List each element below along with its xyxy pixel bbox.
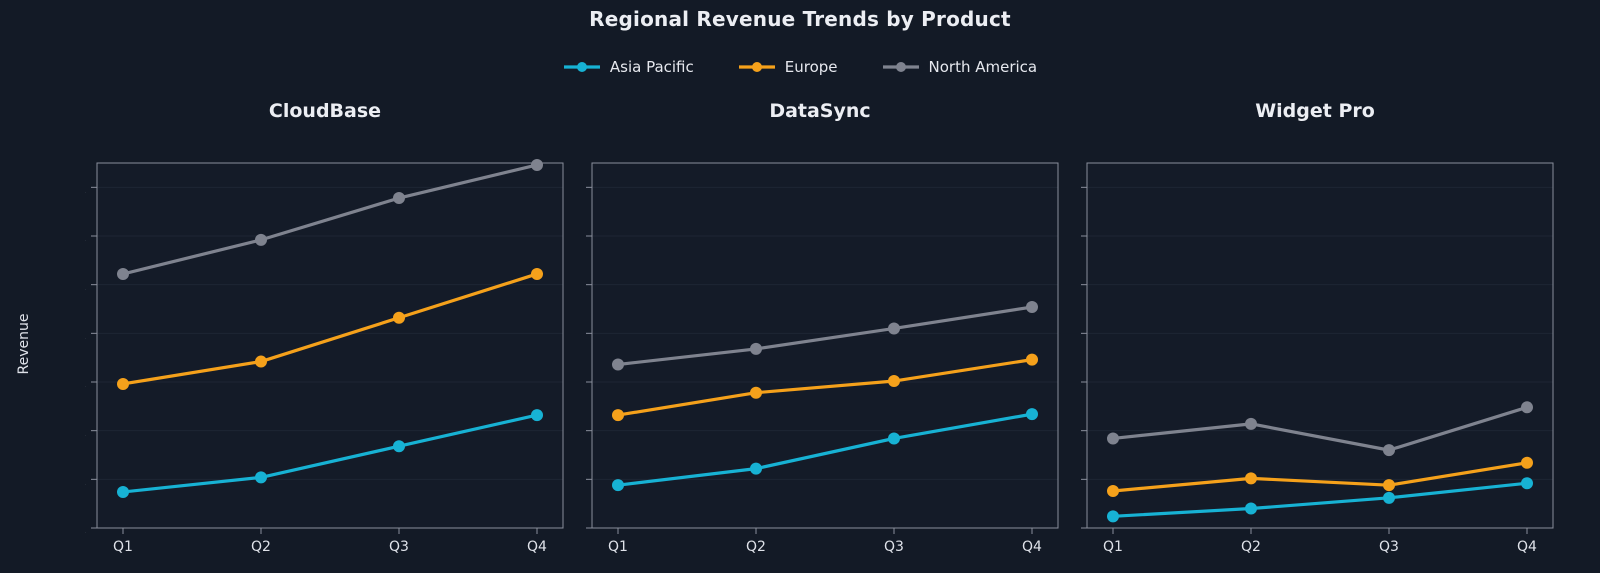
legend-label: Europe bbox=[785, 58, 838, 76]
chart-panel: DataSyncQ1Q2Q3Q4 bbox=[580, 100, 1060, 560]
data-point[interactable] bbox=[1026, 301, 1038, 313]
data-point[interactable] bbox=[393, 192, 405, 204]
chart-title: Regional Revenue Trends by Product bbox=[0, 7, 1600, 31]
chart-legend: Asia PacificEuropeNorth America bbox=[0, 58, 1600, 76]
data-point[interactable] bbox=[612, 479, 624, 491]
data-point[interactable] bbox=[255, 471, 267, 483]
data-point[interactable] bbox=[1521, 457, 1533, 469]
data-point[interactable] bbox=[117, 268, 129, 280]
panel-title: Widget Pro bbox=[1075, 100, 1555, 122]
y-axis-tick-label: $250K bbox=[85, 326, 86, 342]
data-point[interactable] bbox=[1107, 510, 1119, 522]
plot-background bbox=[592, 163, 1058, 528]
x-axis-tick-label: Q3 bbox=[1379, 539, 1399, 555]
x-axis-tick-label: Q4 bbox=[527, 539, 547, 555]
legend-entry[interactable]: North America bbox=[882, 58, 1038, 76]
data-point[interactable] bbox=[117, 378, 129, 390]
data-point[interactable] bbox=[888, 432, 900, 444]
data-point[interactable] bbox=[1245, 418, 1257, 430]
data-point[interactable] bbox=[750, 343, 762, 355]
data-point[interactable] bbox=[1026, 408, 1038, 420]
y-axis-tick-label: $350K bbox=[85, 229, 86, 245]
y-axis-label: Revenue bbox=[16, 304, 32, 384]
y-axis-tick-label: $400K bbox=[85, 180, 86, 196]
plot-area: Q1Q2Q3Q4 bbox=[580, 128, 1060, 573]
data-point[interactable] bbox=[1245, 472, 1257, 484]
data-point[interactable] bbox=[750, 463, 762, 475]
x-axis-tick-label: Q1 bbox=[1103, 539, 1123, 555]
legend-label: North America bbox=[929, 58, 1038, 76]
data-point[interactable] bbox=[1245, 503, 1257, 515]
data-point[interactable] bbox=[888, 322, 900, 334]
x-axis-tick-label: Q4 bbox=[1517, 539, 1537, 555]
y-axis-tick-label: $100K bbox=[85, 472, 86, 488]
data-point[interactable] bbox=[1026, 354, 1038, 366]
data-point[interactable] bbox=[255, 356, 267, 368]
x-axis-tick-label: Q1 bbox=[608, 539, 628, 555]
figure-root: Regional Revenue Trends by Product Asia … bbox=[0, 0, 1600, 549]
data-point[interactable] bbox=[612, 358, 624, 370]
x-axis-tick-label: Q3 bbox=[884, 539, 904, 555]
data-point[interactable] bbox=[888, 375, 900, 387]
data-point[interactable] bbox=[750, 387, 762, 399]
chart-panel: CloudBase$50K$100K$150K$200K$250K$300K$3… bbox=[85, 100, 565, 560]
legend-marker-icon bbox=[563, 60, 601, 74]
data-point[interactable] bbox=[531, 159, 543, 171]
data-point[interactable] bbox=[1107, 485, 1119, 497]
data-point[interactable] bbox=[1383, 492, 1395, 504]
x-axis-tick-label: Q2 bbox=[1241, 539, 1261, 555]
data-point[interactable] bbox=[393, 312, 405, 324]
data-point[interactable] bbox=[531, 268, 543, 280]
data-point[interactable] bbox=[1107, 432, 1119, 444]
x-axis-tick-label: Q2 bbox=[251, 539, 271, 555]
y-axis-tick-label: $200K bbox=[85, 375, 86, 391]
plot-area: $50K$100K$150K$200K$250K$300K$350K$400KQ… bbox=[85, 128, 565, 573]
y-axis-tick-label: $50K bbox=[85, 521, 86, 537]
x-axis-tick-label: Q2 bbox=[746, 539, 766, 555]
legend-entry[interactable]: Asia Pacific bbox=[563, 58, 694, 76]
x-axis-tick-label: Q3 bbox=[389, 539, 409, 555]
data-point[interactable] bbox=[1383, 444, 1395, 456]
data-point[interactable] bbox=[1383, 479, 1395, 491]
legend-marker-icon bbox=[882, 60, 920, 74]
data-point[interactable] bbox=[117, 486, 129, 498]
chart-panel: Widget ProQ1Q2Q3Q4 bbox=[1075, 100, 1555, 560]
data-point[interactable] bbox=[393, 440, 405, 452]
legend-label: Asia Pacific bbox=[610, 58, 694, 76]
legend-entry[interactable]: Europe bbox=[738, 58, 838, 76]
data-point[interactable] bbox=[531, 409, 543, 421]
plot-background bbox=[1087, 163, 1553, 528]
plot-area: Q1Q2Q3Q4 bbox=[1075, 128, 1555, 573]
data-point[interactable] bbox=[612, 409, 624, 421]
x-axis-tick-label: Q1 bbox=[113, 539, 133, 555]
panel-title: DataSync bbox=[580, 100, 1060, 122]
data-point[interactable] bbox=[255, 234, 267, 246]
y-axis-tick-label: $300K bbox=[85, 278, 86, 294]
data-point[interactable] bbox=[1521, 477, 1533, 489]
y-axis-tick-label: $150K bbox=[85, 424, 86, 440]
data-point[interactable] bbox=[1521, 401, 1533, 413]
x-axis-tick-label: Q4 bbox=[1022, 539, 1042, 555]
legend-marker-icon bbox=[738, 60, 776, 74]
panel-title: CloudBase bbox=[85, 100, 565, 122]
